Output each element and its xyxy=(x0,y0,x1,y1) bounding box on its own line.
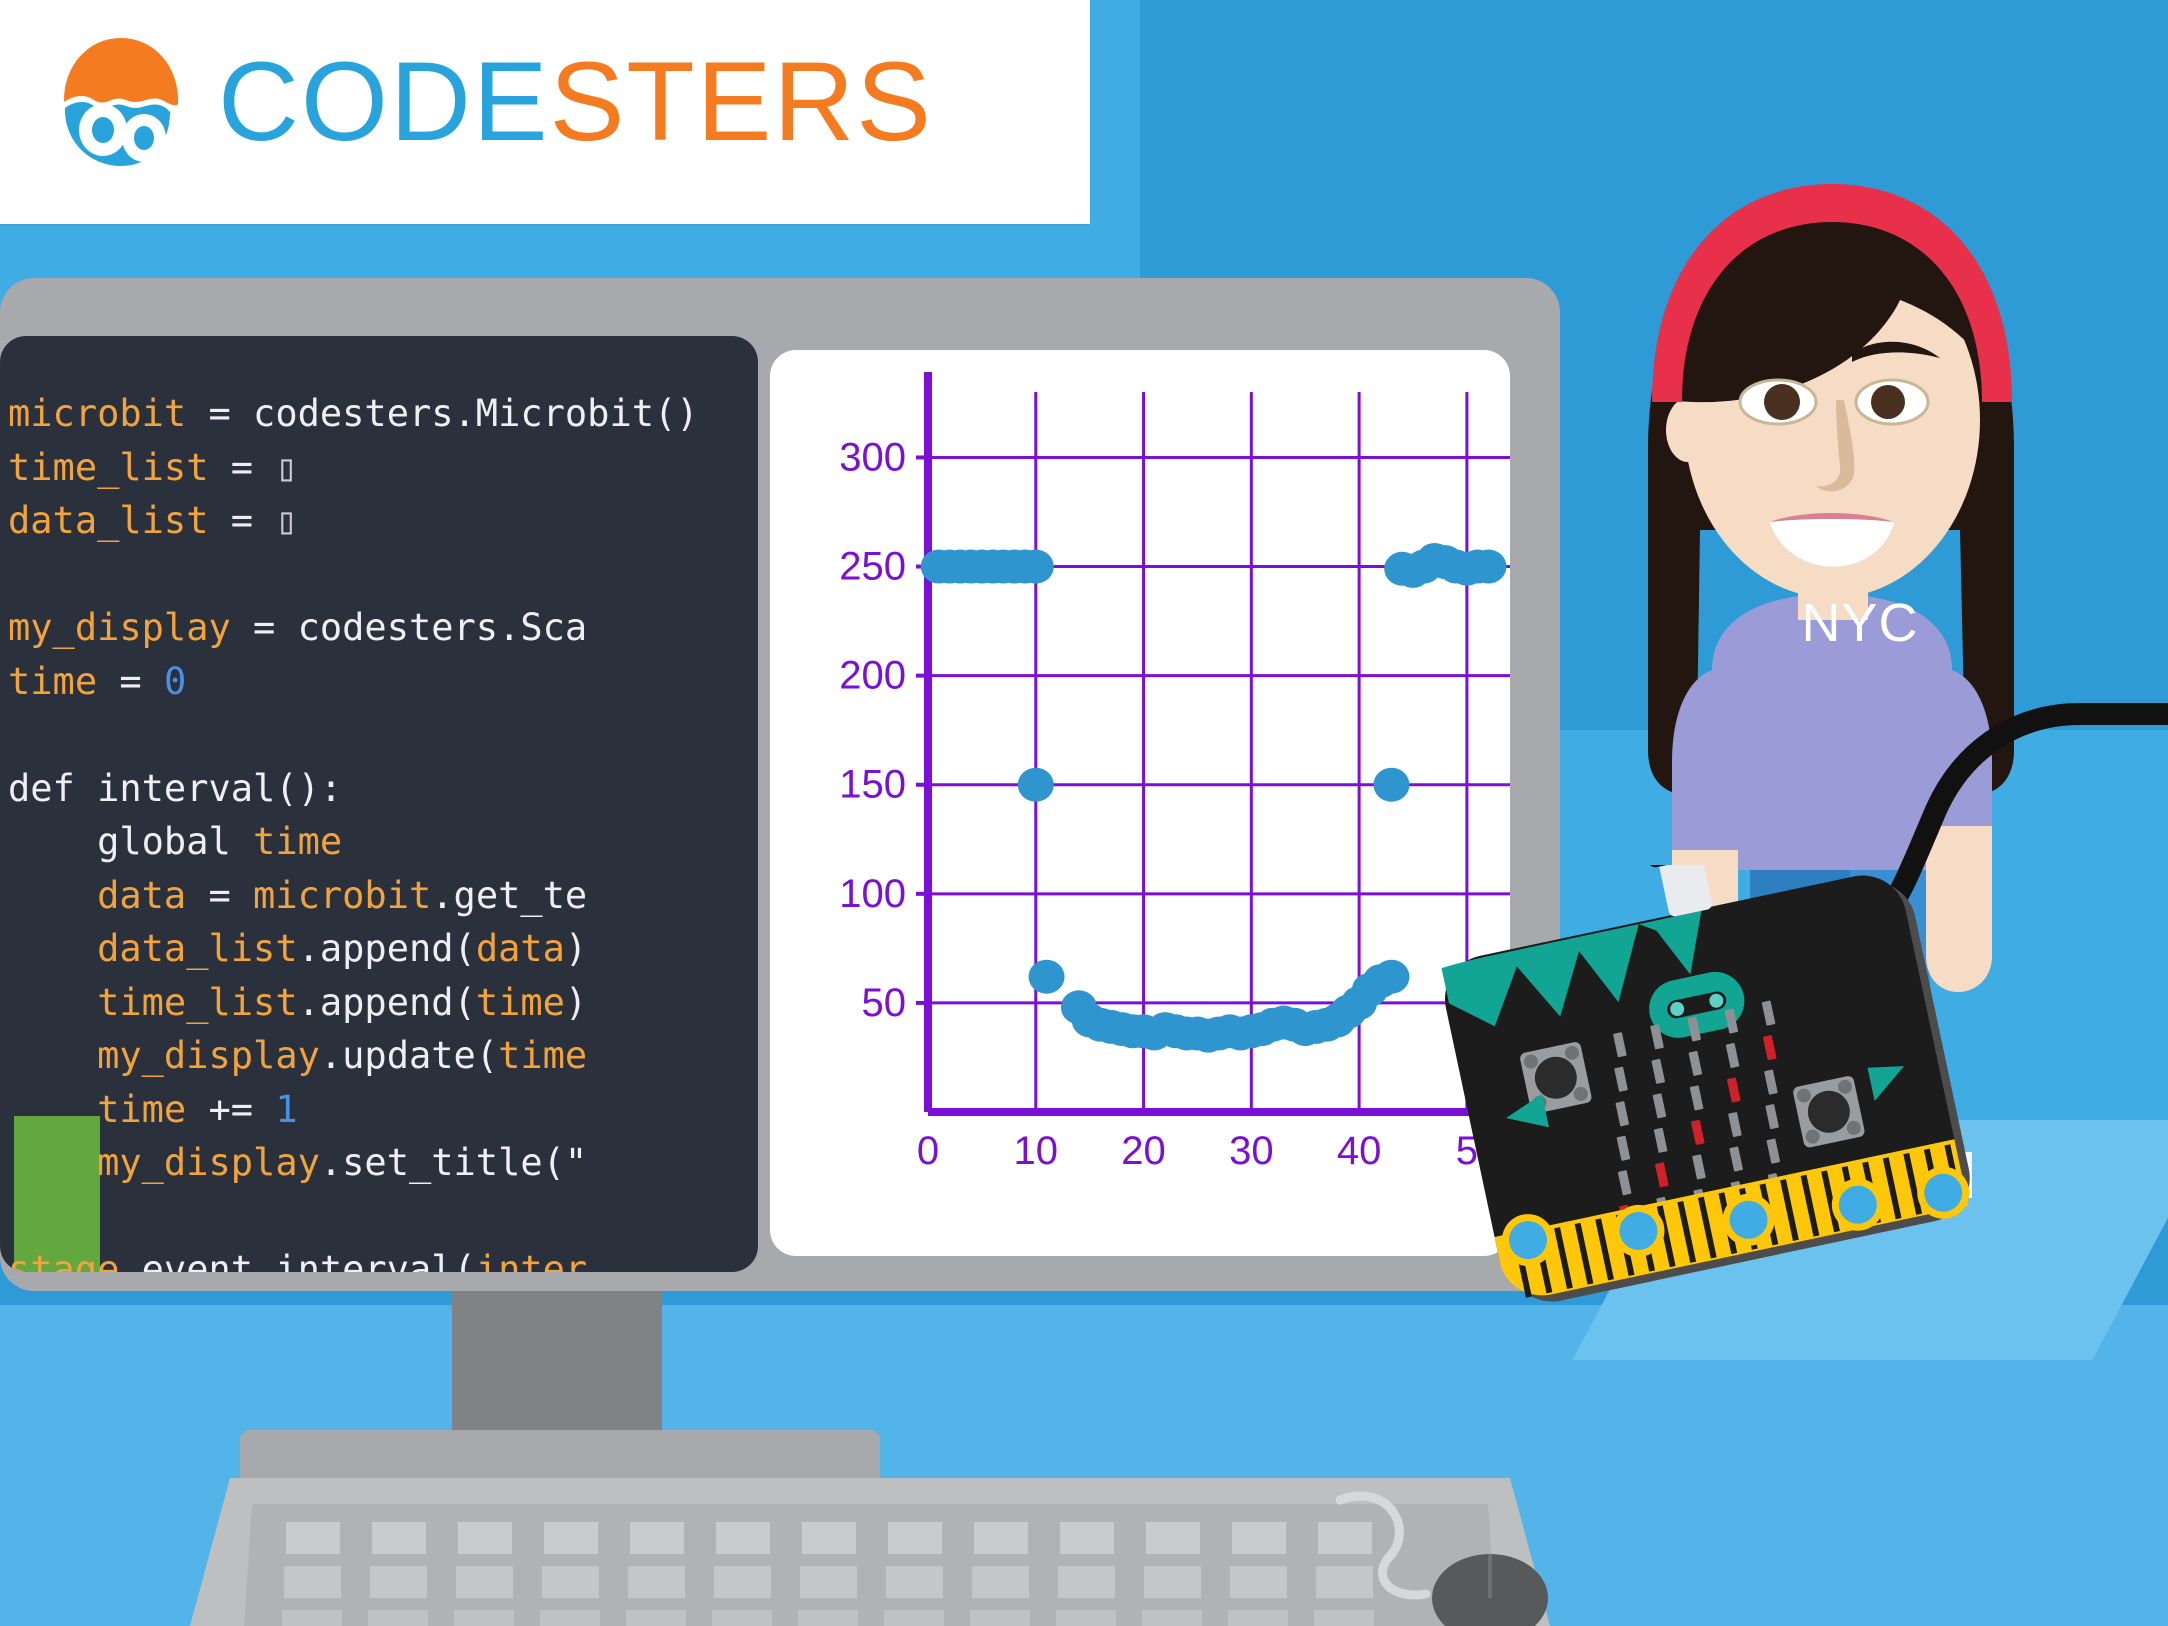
code-token: ) xyxy=(565,981,587,1024)
x-axis-tick-label: 30 xyxy=(1229,1129,1274,1173)
code-token: time xyxy=(8,660,97,703)
keyboard-key[interactable] xyxy=(542,1566,599,1598)
mouse[interactable] xyxy=(1330,1490,1570,1626)
keyboard-key[interactable] xyxy=(800,1566,857,1598)
code-token: = xyxy=(208,499,275,542)
keyboard-key[interactable] xyxy=(1232,1522,1286,1554)
keyboard-key[interactable] xyxy=(802,1522,856,1554)
code-token: def interval(): xyxy=(8,767,342,810)
keyboard-key[interactable] xyxy=(630,1522,684,1554)
code-token: data_list xyxy=(97,927,297,970)
code-token: = xyxy=(186,874,253,917)
code-token: inter xyxy=(476,1248,587,1272)
code-token: microbit xyxy=(8,392,186,435)
keyboard-key[interactable] xyxy=(886,1566,943,1598)
keyboard-key[interactable] xyxy=(1146,1522,1200,1554)
keyboard-key[interactable] xyxy=(1058,1566,1115,1598)
keyboard-key[interactable] xyxy=(798,1610,858,1626)
keyboard-key[interactable] xyxy=(1228,1610,1288,1626)
scene: CODESTERS microbit = codesters.Microbit(… xyxy=(0,0,2168,1626)
code-token: microbit xyxy=(253,874,431,917)
code-line: time = 0 xyxy=(8,660,186,703)
codesters-owl-logo-icon xyxy=(46,32,196,172)
brand-wordmark-sters: STERS xyxy=(550,39,933,164)
code-token: codesters.Sca xyxy=(298,606,588,649)
code-token: data_list xyxy=(8,499,208,542)
code-token: ▯ xyxy=(275,499,297,542)
keyboard-key[interactable] xyxy=(1144,1566,1201,1598)
code-line: time += 1 xyxy=(8,1088,298,1131)
scatter-chart-svg: 501001502002503000102030405 xyxy=(770,350,1510,1256)
code-line: data_list.append(data) xyxy=(8,927,587,970)
code-editor-pane[interactable]: microbit = codesters.Microbit() time_lis… xyxy=(0,336,758,1272)
code-token: ) xyxy=(565,927,587,970)
code-line: my_display.update(time xyxy=(8,1034,587,1077)
x-axis-tick-label: 20 xyxy=(1121,1129,1166,1173)
code-token: = xyxy=(231,606,298,649)
data-point xyxy=(1373,768,1409,802)
code-token: .get_te xyxy=(431,874,587,917)
code-token: 1 xyxy=(275,1088,297,1131)
keyboard-key[interactable] xyxy=(628,1566,685,1598)
code-line: data = microbit.get_te xyxy=(8,874,587,917)
code-line: data_list = ▯ xyxy=(8,499,298,542)
y-axis-tick-label: 200 xyxy=(839,654,906,698)
code-token: time xyxy=(498,1034,587,1077)
code-token: 0 xyxy=(164,660,186,703)
code-token: time_list xyxy=(8,446,208,489)
code-token: = xyxy=(186,392,253,435)
keyboard-key[interactable] xyxy=(372,1522,426,1554)
code-token xyxy=(8,1088,97,1131)
keyboard-key[interactable] xyxy=(1060,1522,1114,1554)
keyboard-key[interactable] xyxy=(974,1522,1028,1554)
keyboard-key[interactable] xyxy=(454,1610,514,1626)
data-point xyxy=(1018,550,1054,584)
keyboard-key[interactable] xyxy=(970,1610,1030,1626)
code-line: microbit = codesters.Microbit() xyxy=(8,392,699,435)
code-token: my_display xyxy=(97,1034,320,1077)
code-line: time_list = ▯ xyxy=(8,446,298,489)
keyboard-key[interactable] xyxy=(540,1610,600,1626)
code-token: time xyxy=(97,1088,186,1131)
code-token: .update( xyxy=(320,1034,498,1077)
code-token: .append( xyxy=(298,927,476,970)
code-token: " xyxy=(565,1141,587,1184)
code-token: stage xyxy=(8,1248,119,1272)
keyboard-key[interactable] xyxy=(972,1566,1029,1598)
y-axis-tick-label: 100 xyxy=(839,872,906,916)
keyboard-key[interactable] xyxy=(888,1522,942,1554)
code-token: time_list xyxy=(97,981,297,1024)
keyboard-key[interactable] xyxy=(368,1610,428,1626)
keyboard-key[interactable] xyxy=(884,1610,944,1626)
code-editor-text[interactable]: microbit = codesters.Microbit() time_lis… xyxy=(8,387,699,1272)
keyboard-key[interactable] xyxy=(370,1566,427,1598)
data-point xyxy=(1470,550,1506,584)
code-token xyxy=(8,927,97,970)
keyboard-key[interactable] xyxy=(544,1522,598,1554)
y-axis-tick-label: 50 xyxy=(862,981,907,1025)
x-axis-tick-label: 40 xyxy=(1337,1129,1382,1173)
data-point xyxy=(1018,768,1054,802)
code-token: data xyxy=(97,874,186,917)
code-token xyxy=(8,1034,97,1077)
code-line: stage.event_interval(inter xyxy=(8,1248,587,1272)
y-axis-tick-label: 250 xyxy=(839,545,906,589)
code-token: time xyxy=(253,820,342,863)
y-axis-tick-label: 300 xyxy=(839,435,906,479)
brand-logo[interactable]: CODESTERS xyxy=(46,32,933,172)
program-output-pane: 501001502002503000102030405 xyxy=(770,350,1510,1256)
code-token: my_display xyxy=(97,1141,320,1184)
code-token: .event_interval( xyxy=(119,1248,475,1272)
keyboard-key[interactable] xyxy=(1230,1566,1287,1598)
brand-wordmark: CODESTERS xyxy=(218,46,933,158)
keyboard-key[interactable] xyxy=(1056,1610,1116,1626)
scatter-chart: 501001502002503000102030405 xyxy=(770,350,1510,1256)
code-token: .set_title( xyxy=(320,1141,565,1184)
data-point xyxy=(1029,960,1065,994)
code-token: codesters.Microbit() xyxy=(253,392,699,435)
keyboard-key[interactable] xyxy=(456,1566,513,1598)
brand-logo-card: CODESTERS xyxy=(0,0,1090,224)
code-line: global time xyxy=(8,820,342,863)
data-point xyxy=(1373,960,1409,994)
brand-wordmark-code: CODE xyxy=(218,39,550,164)
y-axis-tick-label: 150 xyxy=(839,763,906,807)
code-token: += xyxy=(186,1088,275,1131)
code-token: data xyxy=(476,927,565,970)
keyboard-key[interactable] xyxy=(626,1610,686,1626)
keyboard-key[interactable] xyxy=(284,1566,341,1598)
keyboard-key[interactable] xyxy=(282,1610,342,1626)
code-token: = xyxy=(97,660,164,703)
code-token: time xyxy=(476,981,565,1024)
monitor-stand-neck xyxy=(452,1291,662,1445)
x-axis-tick-label: 0 xyxy=(917,1129,939,1173)
code-line: time_list.append(time) xyxy=(8,981,587,1024)
code-token: global xyxy=(8,820,253,863)
keyboard-key[interactable] xyxy=(714,1566,771,1598)
code-token: = xyxy=(208,446,275,489)
keyboard-key[interactable] xyxy=(712,1610,772,1626)
x-axis-tick-label: 10 xyxy=(1014,1129,1059,1173)
keyboard-key[interactable] xyxy=(458,1522,512,1554)
code-line: my_display.set_title(" xyxy=(8,1141,587,1184)
shirt-text: NYC xyxy=(1760,592,1960,654)
keyboard-key[interactable] xyxy=(1142,1610,1202,1626)
code-token xyxy=(8,981,97,1024)
keyboard-key[interactable] xyxy=(716,1522,770,1554)
microbit-device xyxy=(1440,865,1980,1325)
keyboard-key[interactable] xyxy=(286,1522,340,1554)
code-token: my_display xyxy=(8,606,231,649)
code-line: def interval(): xyxy=(8,767,342,810)
code-line: my_display = codesters.Sca xyxy=(8,606,587,649)
code-token: .append( xyxy=(298,981,476,1024)
code-token xyxy=(8,874,97,917)
code-token: ▯ xyxy=(275,446,297,489)
code-token xyxy=(8,1141,97,1184)
